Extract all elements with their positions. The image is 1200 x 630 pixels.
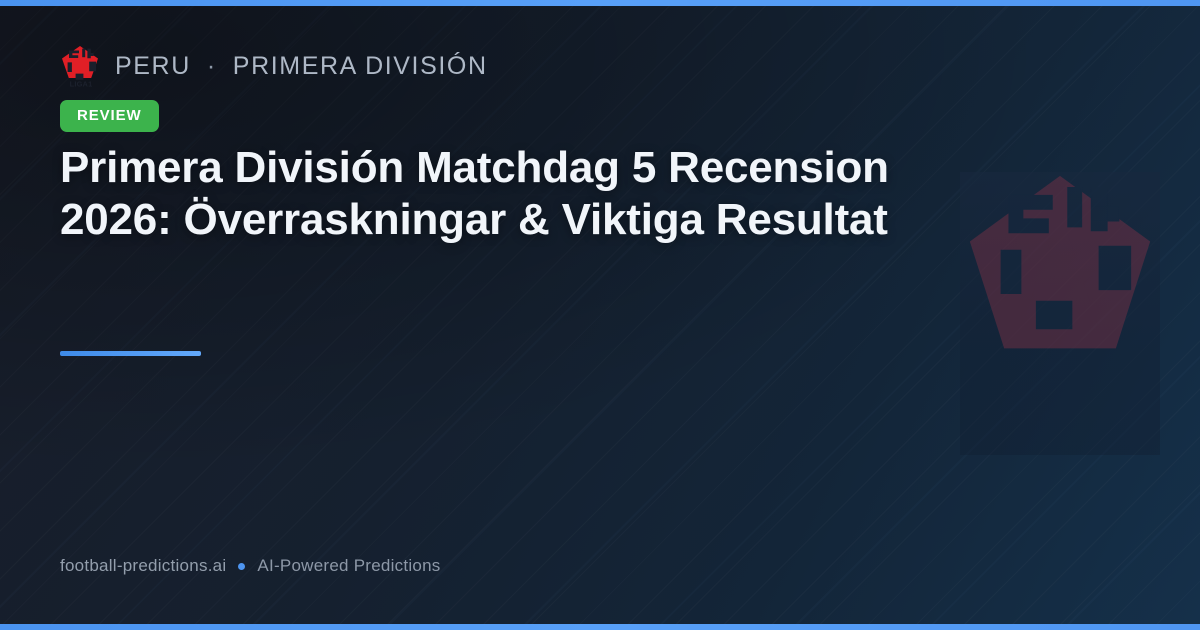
page-title: Primera División Matchdag 5 Recension 20… — [60, 142, 950, 246]
breadcrumb-separator: · — [204, 52, 220, 81]
card-content: LIGA1 PERU · PRIMERA DIVISIÓN REVIEW Pri… — [60, 0, 950, 630]
liga1-pentagon-logo-watermark-icon — [962, 172, 1158, 369]
liga1-pentagon-logo-icon: LIGA1 — [60, 44, 102, 88]
liga1-wordmark: LIGA1 — [70, 79, 93, 88]
league-country-label: PERU — [115, 52, 191, 81]
site-tagline: AI-Powered Predictions — [257, 556, 440, 576]
title-accent-underline — [60, 351, 201, 356]
status-badge: REVIEW — [60, 100, 159, 132]
footer: football-predictions.ai AI-Powered Predi… — [60, 556, 441, 576]
site-name: football-predictions.ai — [60, 556, 226, 576]
league-breadcrumb: LIGA1 PERU · PRIMERA DIVISIÓN — [60, 44, 488, 88]
watermark-panel — [960, 172, 1160, 455]
blue-dot-separator-icon — [238, 563, 245, 570]
og-share-card: LIGA1 PERU · PRIMERA DIVISIÓN REVIEW Pri… — [0, 0, 1200, 630]
league-competition-label: PRIMERA DIVISIÓN — [233, 52, 488, 81]
